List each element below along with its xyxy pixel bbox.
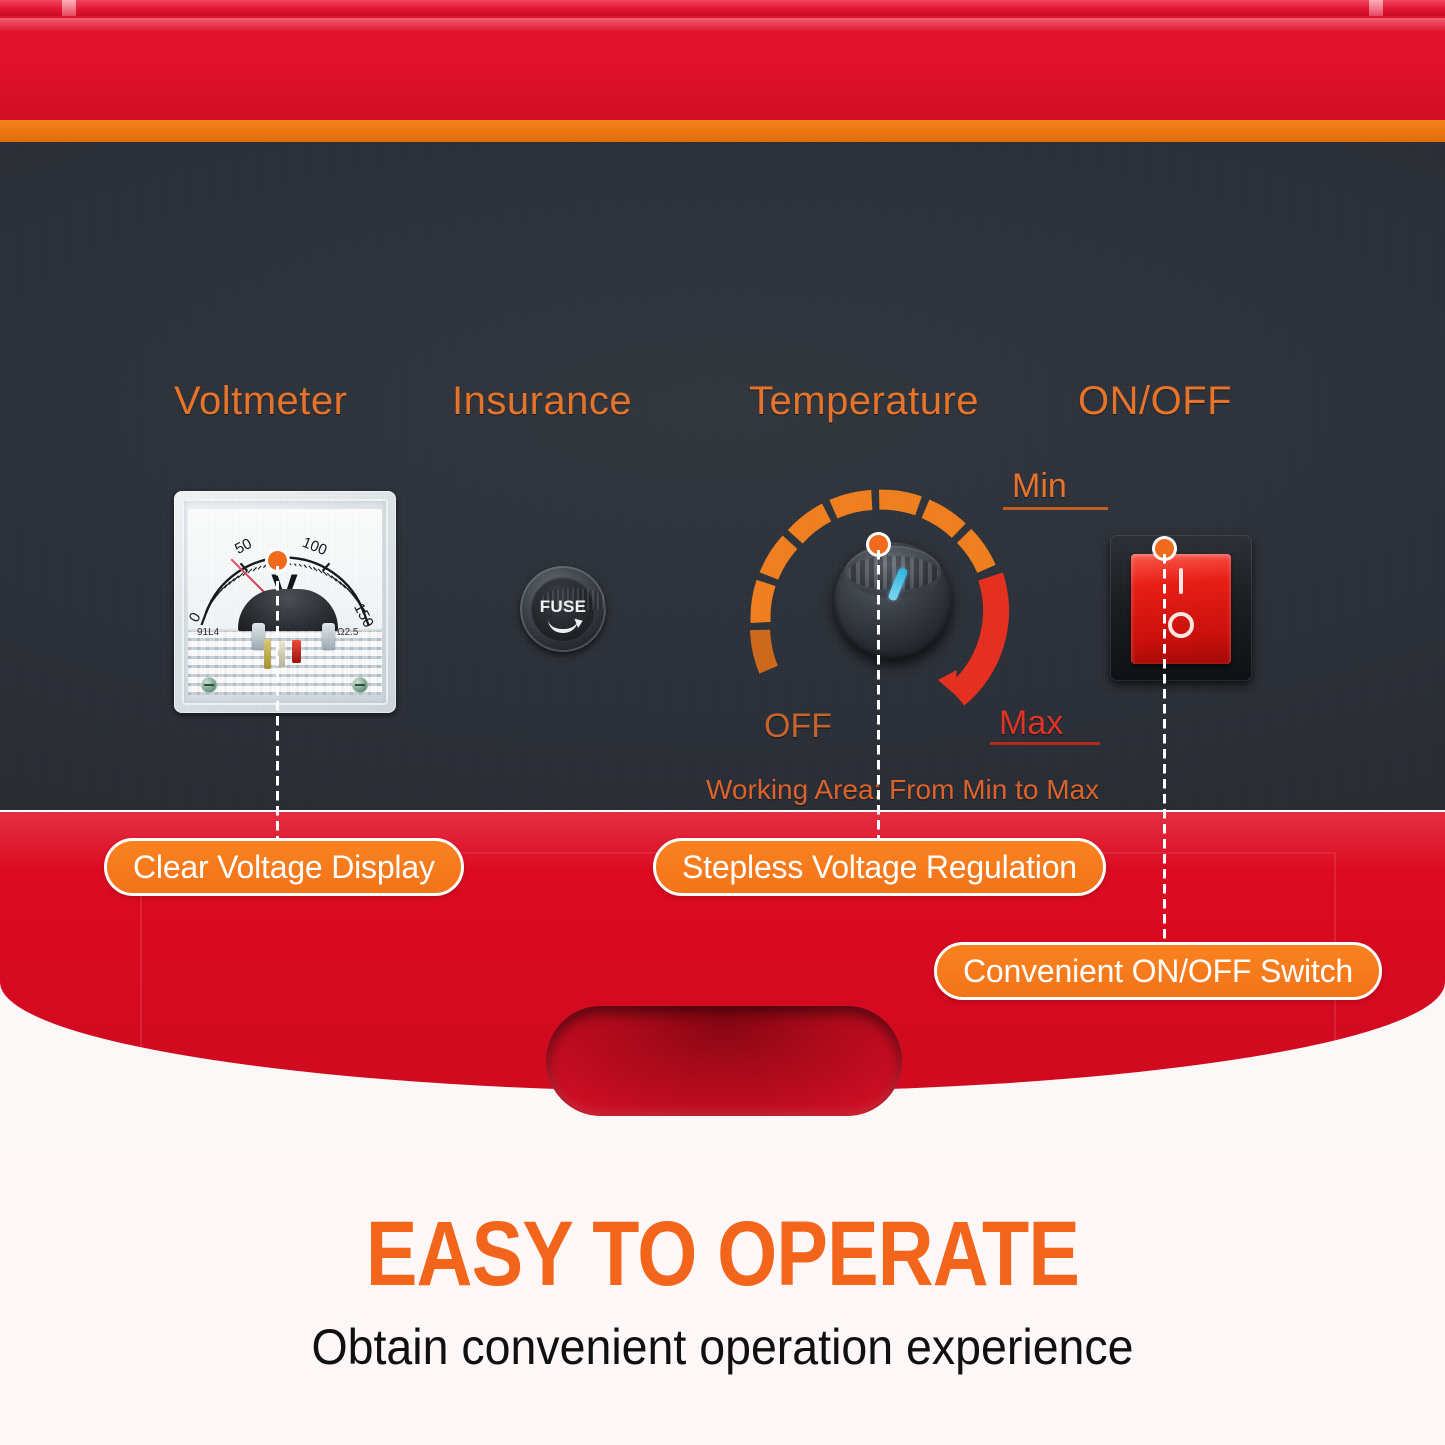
callout-convenient-on-off-switch[interactable]: Convenient ON/OFF Switch — [934, 942, 1382, 1000]
footer-headline: EASY TO OPERATE — [116, 1202, 1330, 1307]
temperature-control — [724, 442, 1054, 742]
lid-notch-right — [1369, 0, 1383, 16]
knob-label-min: Min — [1012, 467, 1067, 506]
panel-label-voltmeter: Voltmeter — [174, 379, 347, 424]
knob-min-underline — [1003, 507, 1108, 510]
working-area-note: Working Area: From Min to Max — [706, 774, 1099, 806]
orange-accent-stripe — [0, 120, 1445, 142]
callout-clear-voltage-display[interactable]: Clear Voltage Display — [104, 838, 464, 896]
temperature-knob[interactable] — [834, 542, 952, 660]
footer-section: EASY TO OPERATE Obtain convenient operat… — [0, 1150, 1445, 1445]
rocker-off-symbol-icon — [1168, 612, 1194, 638]
voltmeter-wire-red — [292, 640, 301, 663]
lid-seam — [0, 0, 1445, 16]
lid-highlight — [0, 18, 1445, 32]
knob-max-underline — [990, 742, 1100, 745]
footer-subheadline: Obtain convenient operation experience — [51, 1318, 1395, 1376]
voltmeter-screw-right — [352, 677, 368, 693]
fuse-turn-arc-icon — [548, 619, 578, 633]
voltmeter-model-marking: 91L4 — [197, 627, 219, 638]
fuse-label: FUSE — [531, 597, 595, 617]
rocker-on-symbol-icon — [1179, 568, 1183, 594]
callout-label: Convenient ON/OFF Switch — [963, 953, 1353, 990]
rocker-face[interactable] — [1131, 554, 1231, 664]
callout-line-voltmeter — [276, 566, 279, 838]
callout-line-knob — [877, 550, 880, 838]
voltmeter-wire-yellow — [264, 639, 271, 669]
machine-lid — [0, 0, 1445, 120]
knob-label-off: OFF — [764, 707, 832, 746]
voltmeter-wire-white — [278, 641, 285, 667]
voltmeter-face: 0 50 100 150 V — [188, 509, 382, 629]
callout-stepless-voltage-regulation[interactable]: Stepless Voltage Regulation — [653, 838, 1106, 896]
power-rocker-switch[interactable] — [1110, 535, 1252, 681]
knob-label-max: Max — [999, 704, 1063, 743]
fuse-cap: FUSE — [531, 577, 595, 641]
callout-label: Stepless Voltage Regulation — [682, 849, 1077, 886]
lid-notch-left — [62, 0, 76, 16]
voltmeter-terminal-right — [322, 623, 335, 649]
product-feature-graphic: Voltmeter Insurance Temperature ON/OFF — [0, 0, 1445, 1445]
fuse-holder[interactable]: FUSE — [520, 566, 606, 652]
voltmeter-class-marking: Ω2.5 — [337, 627, 358, 638]
voltmeter-gauge: 0 50 100 150 V 91L4 Ω2.5 — [174, 491, 396, 713]
control-panel: Voltmeter Insurance Temperature ON/OFF — [0, 142, 1445, 810]
machine-handle — [546, 1006, 902, 1116]
panel-label-onoff: ON/OFF — [1078, 379, 1232, 424]
panel-label-insurance: Insurance — [452, 379, 632, 424]
panel-label-temperature: Temperature — [749, 379, 979, 424]
callout-line-switch — [1163, 554, 1166, 942]
callout-label: Clear Voltage Display — [133, 849, 435, 886]
voltmeter-screw-left — [201, 677, 217, 693]
